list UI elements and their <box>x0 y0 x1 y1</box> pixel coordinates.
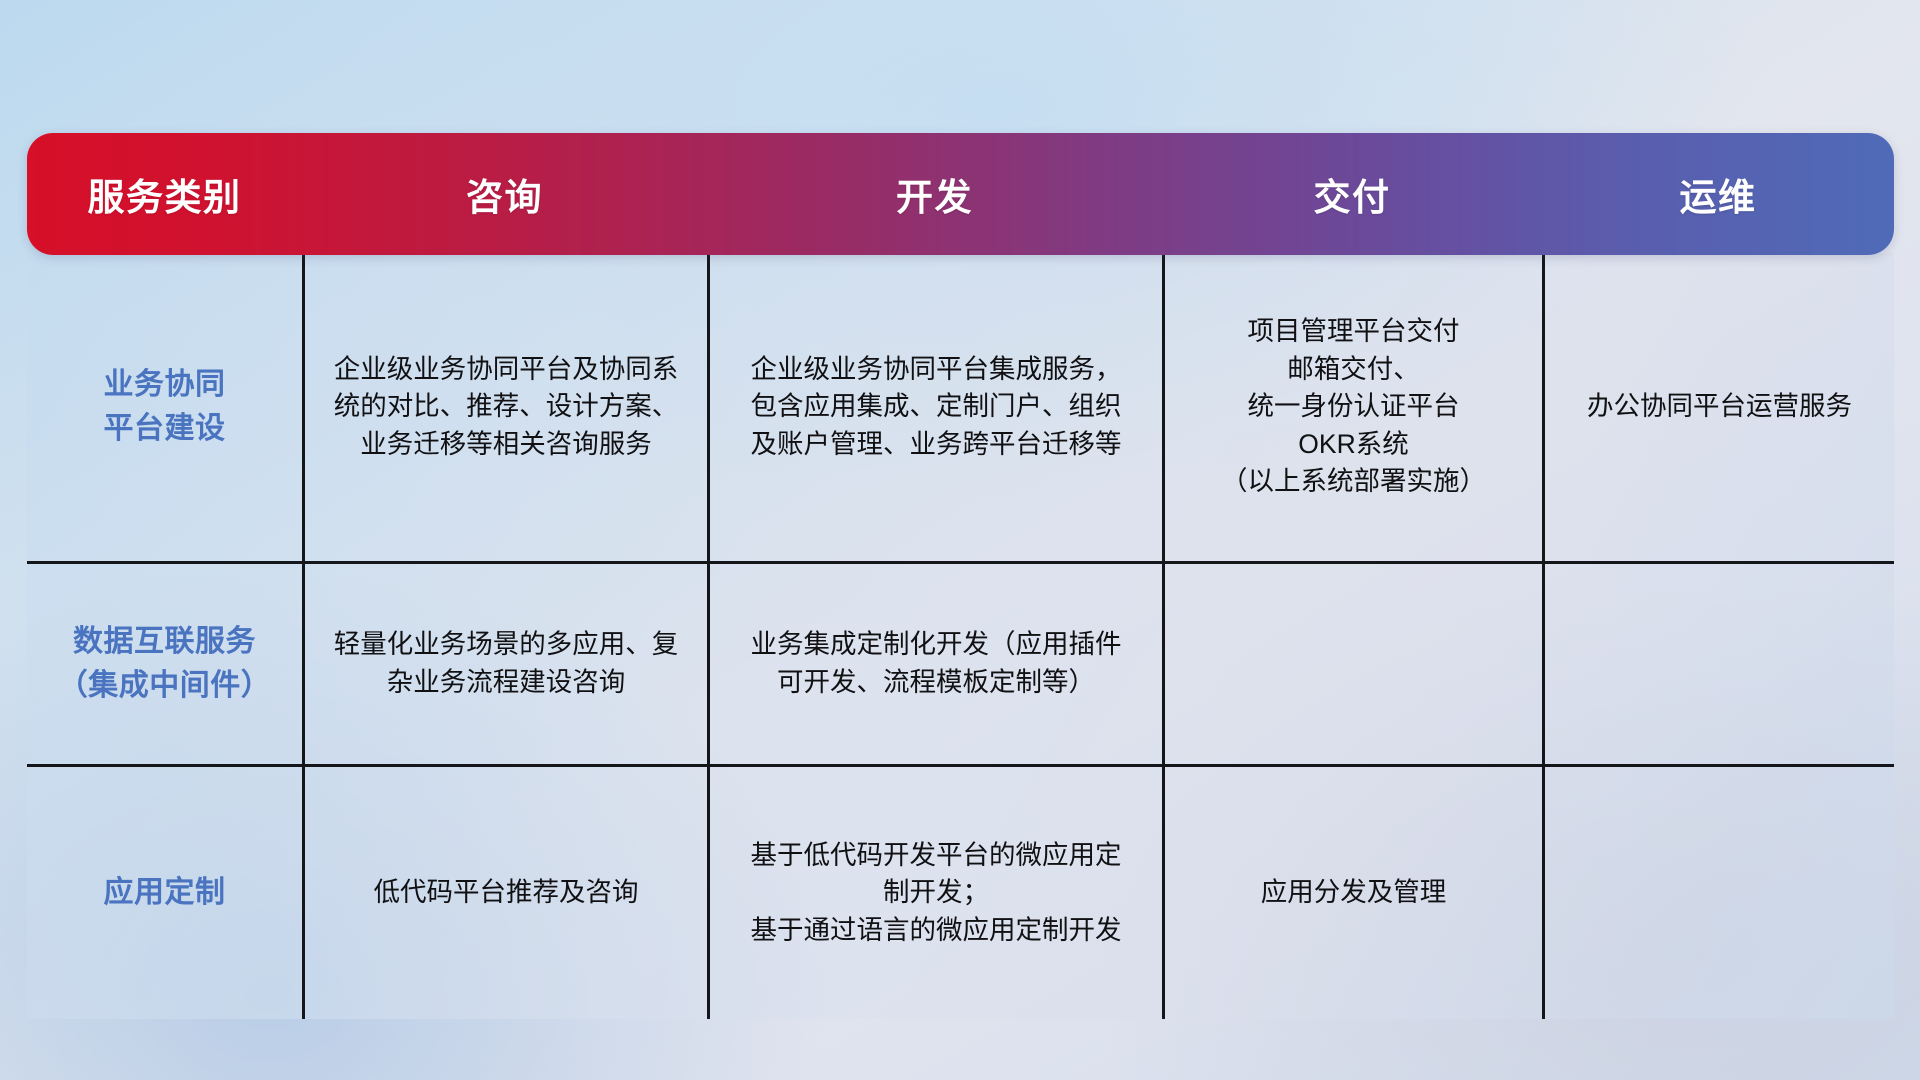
cell-consulting: 企业级业务协同平台及协同系 统的对比、推荐、设计方案、 业务迁移等相关咨询服务 <box>302 253 707 561</box>
cell-operations <box>1542 767 1894 1019</box>
cell-development: 业务集成定制化开发（应用插件 可开发、流程模板定制等） <box>707 564 1162 764</box>
cell-delivery: 项目管理平台交付 邮箱交付、 统一身份认证平台 OKR系统 （以上系统部署实施） <box>1162 253 1542 561</box>
column-header-consulting: 咨询 <box>302 133 707 255</box>
service-matrix-table: 服务类别 咨询 开发 交付 运维 业务协同 平台建设 企业级业务协同平台及协同系… <box>27 133 1894 963</box>
row-category-label: 应用定制 <box>27 767 302 1019</box>
table-row: 应用定制 低代码平台推荐及咨询 基于低代码开发平台的微应用定 制开发； 基于通过… <box>27 764 1894 1019</box>
cell-operations <box>1542 564 1894 764</box>
table-header-row: 服务类别 咨询 开发 交付 运维 <box>27 133 1894 255</box>
table-row: 数据互联服务 （集成中间件） 轻量化业务场景的多应用、复 杂业务流程建设咨询 业… <box>27 561 1894 764</box>
column-header-delivery: 交付 <box>1162 133 1542 255</box>
row-category-label: 业务协同 平台建设 <box>27 253 302 561</box>
cell-consulting: 低代码平台推荐及咨询 <box>302 767 707 1019</box>
column-header-operations: 运维 <box>1542 133 1894 255</box>
cell-consulting: 轻量化业务场景的多应用、复 杂业务流程建设咨询 <box>302 564 707 764</box>
column-header-service-category: 服务类别 <box>27 133 302 255</box>
cell-delivery: 应用分发及管理 <box>1162 767 1542 1019</box>
slide-canvas: 服务类别 咨询 开发 交付 运维 业务协同 平台建设 企业级业务协同平台及协同系… <box>0 0 1920 1080</box>
column-header-development: 开发 <box>707 133 1162 255</box>
table-body: 业务协同 平台建设 企业级业务协同平台及协同系 统的对比、推荐、设计方案、 业务… <box>27 253 1894 1019</box>
cell-operations: 办公协同平台运营服务 <box>1542 253 1894 561</box>
row-category-label: 数据互联服务 （集成中间件） <box>27 564 302 764</box>
cell-development: 基于低代码开发平台的微应用定 制开发； 基于通过语言的微应用定制开发 <box>707 767 1162 1019</box>
table-row: 业务协同 平台建设 企业级业务协同平台及协同系 统的对比、推荐、设计方案、 业务… <box>27 253 1894 561</box>
cell-development: 企业级业务协同平台集成服务， 包含应用集成、定制门户、组织 及账户管理、业务跨平… <box>707 253 1162 561</box>
cell-delivery <box>1162 564 1542 764</box>
